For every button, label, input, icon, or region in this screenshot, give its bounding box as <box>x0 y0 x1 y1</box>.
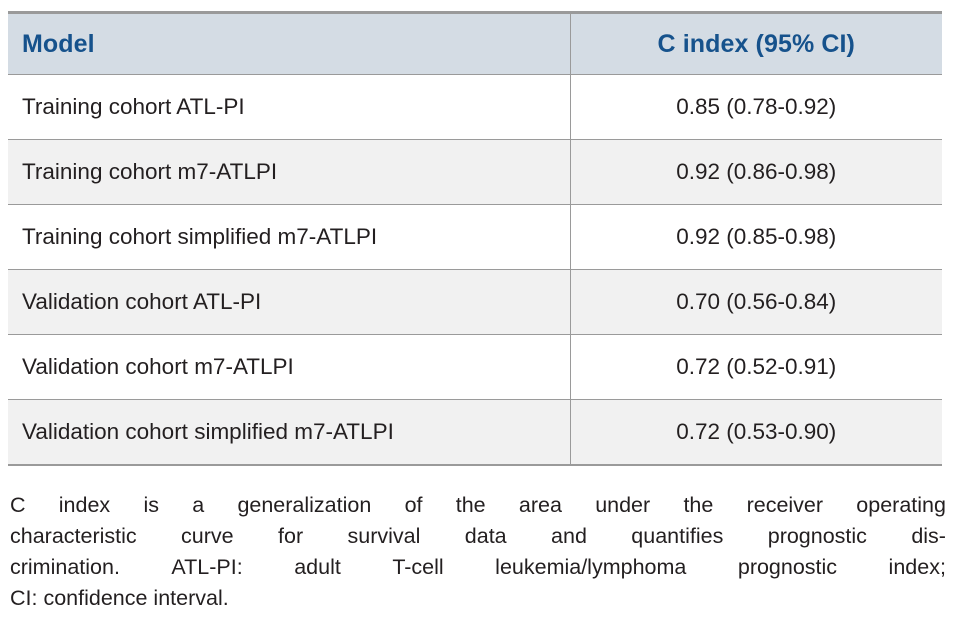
cell-c-index: 0.70 (0.56-0.84) <box>570 270 942 335</box>
cell-c-index: 0.92 (0.85-0.98) <box>570 205 942 270</box>
table-figure-page: Model C index (95% CI) Training cohort A… <box>0 0 956 636</box>
cell-model: Validation cohort simplified m7-ATLPI <box>8 400 570 465</box>
cell-model: Training cohort simplified m7-ATLPI <box>8 205 570 270</box>
c-index-table-container: Model C index (95% CI) Training cohort A… <box>8 11 942 466</box>
table-row: Training cohort ATL-PI 0.85 (0.78-0.92) <box>8 75 942 140</box>
cell-model: Validation cohort m7-ATLPI <box>8 335 570 400</box>
cell-model: Training cohort m7-ATLPI <box>8 140 570 205</box>
table-row: Validation cohort simplified m7-ATLPI 0.… <box>8 400 942 465</box>
cell-c-index: 0.85 (0.78-0.92) <box>570 75 942 140</box>
table-header-row: Model C index (95% CI) <box>8 13 942 75</box>
column-header-c-index: C index (95% CI) <box>570 13 942 75</box>
cell-c-index: 0.72 (0.52-0.91) <box>570 335 942 400</box>
caption-line-4: CI: confidence interval. <box>10 583 946 614</box>
caption-line-2: characteristiccurveforsurvivaldataandqua… <box>10 521 946 552</box>
caption-line-1: Cindexisageneralizationoftheareaunderthe… <box>10 490 946 521</box>
table-row: Training cohort simplified m7-ATLPI 0.92… <box>8 205 942 270</box>
cell-model: Training cohort ATL-PI <box>8 75 570 140</box>
caption-line-4-text: CI: confidence interval. <box>10 586 229 610</box>
cell-model: Validation cohort ATL-PI <box>8 270 570 335</box>
table-header: Model C index (95% CI) <box>8 13 942 75</box>
cell-c-index: 0.72 (0.53-0.90) <box>570 400 942 465</box>
caption-line-3: crimination.ATL-PI:adultT-cellleukemia/l… <box>10 552 946 583</box>
table-body: Training cohort ATL-PI 0.85 (0.78-0.92) … <box>8 75 942 465</box>
cell-c-index: 0.92 (0.86-0.98) <box>570 140 942 205</box>
table-row: Training cohort m7-ATLPI 0.92 (0.86-0.98… <box>8 140 942 205</box>
table-row: Validation cohort ATL-PI 0.70 (0.56-0.84… <box>8 270 942 335</box>
column-header-model: Model <box>8 13 570 75</box>
table-row: Validation cohort m7-ATLPI 0.72 (0.52-0.… <box>8 335 942 400</box>
table-caption: Cindexisageneralizationoftheareaunderthe… <box>10 490 946 614</box>
c-index-table: Model C index (95% CI) Training cohort A… <box>8 11 942 466</box>
